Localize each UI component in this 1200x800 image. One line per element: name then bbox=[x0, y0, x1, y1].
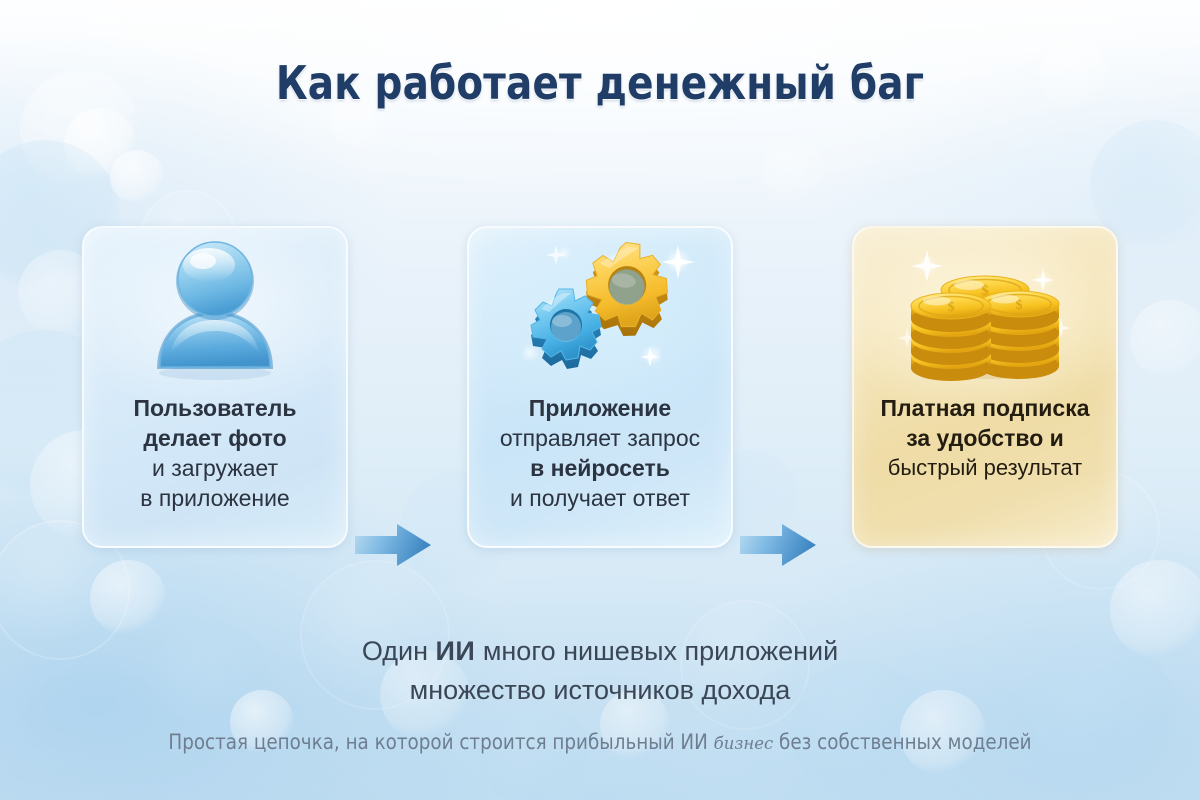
step-line: отправляет запрос bbox=[475, 424, 725, 454]
step-line: в нейросеть bbox=[475, 454, 725, 484]
process-flow: Пользователь делает фото и загружает в п… bbox=[0, 226, 1200, 550]
step-line: Платная подписка bbox=[860, 394, 1110, 424]
step-line: и получает ответ bbox=[475, 484, 725, 514]
coin-stack-left: $ bbox=[911, 293, 991, 381]
right-arrow-icon bbox=[740, 522, 816, 568]
step-icon-zone bbox=[84, 228, 346, 396]
right-arrow-icon bbox=[355, 522, 431, 568]
step-line: Пользователь bbox=[90, 394, 340, 424]
step-card-text: Приложение отправляет запрос в нейросеть… bbox=[475, 394, 725, 514]
step-line: и загружает bbox=[90, 454, 340, 484]
summary-caption: Один ИИ много нишевых приложений множест… bbox=[0, 632, 1200, 710]
step-card-app[interactable]: Приложение отправляет запрос в нейросеть… bbox=[467, 226, 733, 548]
caption-lead: Один bbox=[362, 636, 436, 666]
footer-italic-word: бизнес bbox=[714, 734, 774, 754]
gold-coins-icon: $ bbox=[885, 232, 1085, 392]
caption-rest: много нишевых приложений bbox=[475, 636, 838, 666]
step-card-text: Платная подписка за удобство и быстрый р… bbox=[860, 394, 1110, 482]
step-icon-zone bbox=[469, 228, 731, 396]
step-line: в приложение bbox=[90, 484, 340, 514]
step-line: быстрый результат bbox=[860, 454, 1110, 483]
page-title: Как работает денежный баг bbox=[36, 56, 1164, 110]
footer-note: Простая цепочка, на которой строится при… bbox=[18, 730, 1182, 754]
footer-after: без собственных моделей bbox=[773, 730, 1031, 754]
caption-line-1: Один ИИ много нишевых приложений bbox=[0, 632, 1200, 671]
user-avatar-icon bbox=[135, 237, 295, 387]
step-line: за удобство и bbox=[860, 424, 1110, 454]
caption-keyword: ИИ bbox=[436, 636, 476, 666]
footer-before: Простая цепочка, на которой строится при… bbox=[168, 730, 713, 754]
step-line: Приложение bbox=[475, 394, 725, 424]
caption-line-2: множество источников дохода bbox=[0, 671, 1200, 710]
step-card-money[interactable]: $ bbox=[852, 226, 1118, 548]
step-icon-zone: $ bbox=[854, 228, 1116, 396]
step-line: делает фото bbox=[90, 424, 340, 454]
step-card-text: Пользователь делает фото и загружает в п… bbox=[90, 394, 340, 514]
gears-icon bbox=[500, 235, 700, 390]
step-card-user[interactable]: Пользователь делает фото и загружает в п… bbox=[82, 226, 348, 548]
